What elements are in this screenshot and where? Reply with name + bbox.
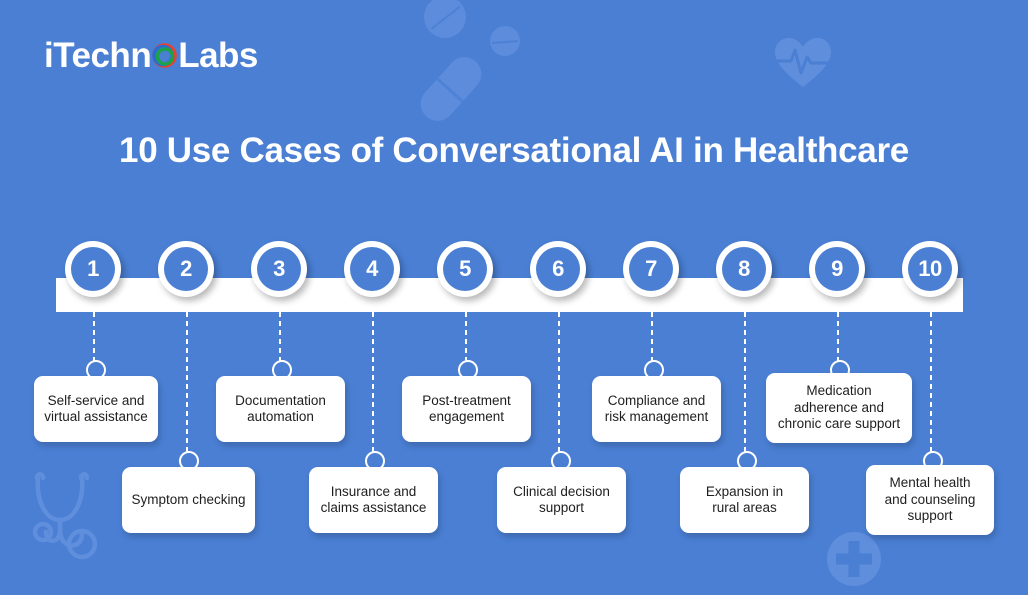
brand-logo[interactable]: iTechn Labs [44, 34, 258, 76]
use-case-card-4[interactable]: Insurance and claims assistance [309, 467, 438, 533]
timeline-node-number: 2 [164, 247, 208, 291]
logo-ring-icon [152, 43, 177, 68]
use-case-label: Mental health and counseling support [885, 475, 976, 524]
logo-text-part1: iTechn [44, 38, 151, 73]
use-case-label: Symptom checking [131, 492, 245, 508]
use-case-card-9[interactable]: Medication adherence and chronic care su… [766, 373, 912, 443]
use-case-card-8[interactable]: Expansion in rural areas [680, 467, 809, 533]
medical-cross-icon [826, 531, 882, 587]
timeline-node-number: 5 [443, 247, 487, 291]
use-case-label: Insurance and claims assistance [321, 484, 427, 517]
timeline-node-number: 3 [257, 247, 301, 291]
pill-icon [416, 0, 475, 46]
heart-pulse-icon [772, 35, 834, 91]
timeline-node-number: 4 [350, 247, 394, 291]
timeline-node-number: 8 [722, 247, 766, 291]
connector-line-8 [744, 312, 746, 455]
use-case-card-10[interactable]: Mental health and counseling support [866, 465, 994, 535]
timeline-node-2[interactable]: 2 [158, 241, 214, 297]
timeline-node-number: 7 [629, 247, 673, 291]
use-case-card-5[interactable]: Post-treatment engagement [402, 376, 531, 442]
timeline-node-number: 9 [815, 247, 859, 291]
connector-line-9 [837, 312, 839, 364]
timeline-node-3[interactable]: 3 [251, 241, 307, 297]
timeline-node-1[interactable]: 1 [65, 241, 121, 297]
timeline-node-4[interactable]: 4 [344, 241, 400, 297]
timeline-node-6[interactable]: 6 [530, 241, 586, 297]
capsule-icon [414, 50, 489, 128]
stethoscope-icon [24, 468, 116, 578]
use-case-label: Post-treatment engagement [422, 393, 511, 426]
use-case-label: Self-service and virtual assistance [44, 393, 148, 426]
pill-icon [489, 25, 521, 57]
use-case-label: Medication adherence and chronic care su… [778, 383, 900, 432]
timeline-node-9[interactable]: 9 [809, 241, 865, 297]
page-title: 10 Use Cases of Conversational AI in Hea… [0, 131, 1028, 171]
use-case-label: Expansion in rural areas [706, 484, 783, 517]
logo-text-part2: Labs [178, 38, 258, 73]
connector-line-3 [279, 312, 281, 364]
timeline-node-8[interactable]: 8 [716, 241, 772, 297]
timeline-node-number: 10 [908, 247, 952, 291]
use-case-label: Documentation automation [235, 393, 326, 426]
timeline-node-7[interactable]: 7 [623, 241, 679, 297]
timeline-node-number: 1 [71, 247, 115, 291]
connector-line-4 [372, 312, 374, 455]
connector-line-7 [651, 312, 653, 364]
timeline-node-5[interactable]: 5 [437, 241, 493, 297]
use-case-card-2[interactable]: Symptom checking [122, 467, 255, 533]
use-case-label: Compliance and risk management [605, 393, 709, 426]
timeline-node-number: 6 [536, 247, 580, 291]
use-case-card-6[interactable]: Clinical decision support [497, 467, 626, 533]
connector-line-6 [558, 312, 560, 455]
timeline-node-10[interactable]: 10 [902, 241, 958, 297]
connector-line-1 [93, 312, 95, 364]
connector-line-10 [930, 312, 932, 455]
infographic-canvas: iTechn Labs 10 Use Cases of Conversation… [0, 0, 1028, 595]
use-case-card-7[interactable]: Compliance and risk management [592, 376, 721, 442]
connector-line-5 [465, 312, 467, 364]
use-case-card-3[interactable]: Documentation automation [216, 376, 345, 442]
connector-line-2 [186, 312, 188, 455]
use-case-label: Clinical decision support [513, 484, 610, 517]
use-case-card-1[interactable]: Self-service and virtual assistance [34, 376, 158, 442]
